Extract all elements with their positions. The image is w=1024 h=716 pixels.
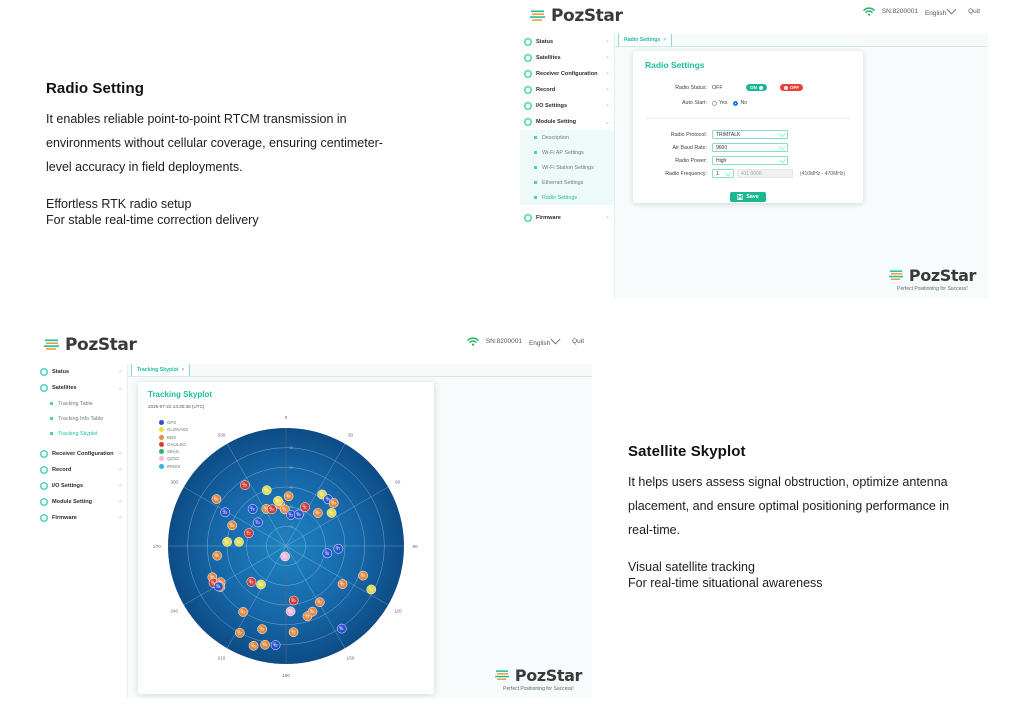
svg-text:43: 43 xyxy=(318,601,322,605)
chevron-up-icon: ⌃ xyxy=(605,72,610,77)
language-label: English xyxy=(529,340,550,347)
sidebar-subitem-ethernet-settings[interactable]: Ethernet Settings xyxy=(520,175,614,190)
sidebar-item-status[interactable]: Status ⌃ xyxy=(520,34,614,50)
satellite-marker: 06 xyxy=(234,537,243,546)
svg-text:0: 0 xyxy=(285,415,288,420)
svg-text:45: 45 xyxy=(289,486,293,490)
app-window-tracking-skyplot: PozStar SN:8200001 English Quit Status xyxy=(36,330,592,698)
svg-text:48: 48 xyxy=(259,583,263,587)
satellite-marker: 23 xyxy=(258,625,267,634)
radio-status-label: Radio Status: xyxy=(645,85,712,91)
radio-protocol-select[interactable]: TRIMTALK xyxy=(712,130,788,139)
svg-text:42: 42 xyxy=(274,644,278,648)
sidebar-item-module-setting[interactable]: Module Setting ⌄ xyxy=(520,114,614,130)
svg-text:09: 09 xyxy=(332,502,336,506)
svg-text:44: 44 xyxy=(287,495,291,499)
radio-protocol-row: Radio Protocol: TRIMTALK xyxy=(645,130,851,139)
language-label: English xyxy=(925,10,946,17)
promo-satellite-skyplot: Satellite Skyplot It helps users assess … xyxy=(628,443,973,591)
tab-strip: Radio Settings × xyxy=(615,34,988,47)
save-button[interactable]: Save xyxy=(730,192,766,202)
svg-text:300: 300 xyxy=(170,480,178,485)
svg-text:29: 29 xyxy=(270,508,274,512)
content-area: Radio Settings Radio Status: OFF ON OFF xyxy=(615,47,988,298)
satellite-marker: 18 xyxy=(248,504,257,513)
svg-text:45: 45 xyxy=(215,554,219,558)
radio-protocol-value: TRIMTALK xyxy=(716,132,740,138)
card-title: Radio Settings xyxy=(645,60,851,70)
receiver-icon xyxy=(524,70,532,78)
sidebar-item-label: Firmware xyxy=(52,515,77,521)
svg-text:49: 49 xyxy=(249,580,253,584)
svg-text:60: 60 xyxy=(395,480,401,485)
footer-brand: PozStar Perfect Positioning for Success! xyxy=(889,266,976,292)
radio-frequency-row: Radio Frequency: 1 411.0000 (410MHz - 47… xyxy=(645,169,851,178)
skyplot-card: Tracking Skyplot 2025-07-22 14:30:38 (UT… xyxy=(138,382,434,694)
sidebar-item-label: Satellites xyxy=(536,55,561,61)
svg-text:90: 90 xyxy=(412,544,418,549)
satellite-marker: 28 xyxy=(323,549,332,558)
satellite-marker: 48 xyxy=(256,580,265,589)
satellite-marker: 17 xyxy=(334,544,343,553)
brand-name: PozStar xyxy=(65,335,136,355)
bullet-icon xyxy=(534,166,537,169)
svg-text:60: 60 xyxy=(289,505,293,509)
promo-title: Radio Setting xyxy=(46,80,406,97)
sidebar-item-label: Module Setting xyxy=(52,499,92,505)
sidebar-item-firmware[interactable]: Firmware ⌃ xyxy=(36,510,127,526)
radio-frequency-value: 411.0000 xyxy=(737,169,793,178)
svg-text:32: 32 xyxy=(320,493,324,497)
tab-label: Radio Settings xyxy=(624,37,660,43)
sidebar: Status ⌃ Satellites ⌄ Tracking Table Tra… xyxy=(36,364,128,698)
bullet-icon xyxy=(50,432,53,435)
sidebar-subitem-label: Wi-Fi AP Settings xyxy=(542,150,584,156)
chevron-up-icon: ⌃ xyxy=(118,516,123,521)
tab-tracking-skyplot[interactable]: Tracking Skyplot × xyxy=(131,363,190,376)
sidebar-subitem-label: Ethernet Settings xyxy=(542,180,583,186)
auto-start-no-radio[interactable] xyxy=(733,101,738,106)
sidebar-subitem-label: Wi-Fi Station Settings xyxy=(542,165,594,171)
chevron-down-icon xyxy=(779,143,786,150)
content-area: Tracking Skyplot 2025-07-22 14:30:38 (UT… xyxy=(128,377,592,698)
air-baud-rate-label: Air Baud Rate: xyxy=(645,145,712,151)
svg-text:03: 03 xyxy=(289,610,293,614)
brand-mark-icon xyxy=(530,9,547,24)
svg-text:23: 23 xyxy=(260,628,264,632)
satellite-marker: 45 xyxy=(213,551,222,560)
sidebar-item-satellites[interactable]: Satellites ⌄ xyxy=(36,380,127,396)
sidebar-item-label: Status xyxy=(52,369,69,375)
satellite-marker: 38 xyxy=(228,521,237,530)
satellite-marker: 09 xyxy=(329,498,338,507)
sidebar-subitem-label: Tracking Info Table xyxy=(58,416,103,422)
sidebar-item-label: I/O Settings xyxy=(536,103,567,109)
sidebar-item-label: Receiver Configuration xyxy=(536,71,598,77)
sidebar-subitem-radio-settings[interactable]: Radio Settings xyxy=(520,190,614,205)
brand-mark-icon xyxy=(889,269,905,283)
chevron-down-icon xyxy=(779,156,786,163)
promo-body: It enables reliable point-to-point RTCM … xyxy=(46,107,406,179)
svg-text:30: 30 xyxy=(348,432,354,437)
quit-button[interactable]: Quit xyxy=(968,8,980,15)
sidebar-subitem-label: Tracking Skyplot xyxy=(58,431,98,437)
sidebar-item-label: I/O Settings xyxy=(52,483,83,489)
radio-power-label: Radio Power: xyxy=(645,158,712,164)
auto-start-yes-radio[interactable] xyxy=(712,101,717,106)
receiver-icon xyxy=(40,450,48,458)
radio-power-select[interactable]: High xyxy=(712,156,788,165)
svg-text:18: 18 xyxy=(251,507,255,511)
radio-frequency-channel-value: 1 xyxy=(716,171,719,177)
io-icon xyxy=(524,102,532,110)
svg-text:150: 150 xyxy=(347,656,355,661)
svg-text:210: 210 xyxy=(218,656,226,661)
sidebar-item-label: Receiver Configuration xyxy=(52,451,114,457)
radio-off-label: OFF xyxy=(790,85,799,90)
status-icon xyxy=(40,368,48,376)
satellite-marker: 22 xyxy=(244,529,253,538)
svg-text:17: 17 xyxy=(336,547,340,551)
toggle-knob-icon xyxy=(759,86,763,90)
svg-text:11: 11 xyxy=(303,506,307,510)
chevron-up-icon: ⌃ xyxy=(118,500,123,505)
satellite-marker: 50 xyxy=(212,494,221,503)
svg-text:25: 25 xyxy=(223,511,227,515)
chevron-up-icon: ⌃ xyxy=(605,216,610,221)
svg-text:39: 39 xyxy=(361,574,365,578)
auto-start-no-label: No xyxy=(740,100,747,106)
toggle-knob-icon xyxy=(784,86,788,90)
brand-name: PozStar xyxy=(551,6,622,26)
skyplot-timestamp: 2025-07-22 14:30:38 (UTC) xyxy=(148,404,424,409)
app-header: PozStar SN:8200001 English Quit xyxy=(520,0,988,34)
promo-tagline-1: Visual satellite tracking xyxy=(628,560,973,576)
svg-text:22: 22 xyxy=(247,532,251,536)
svg-text:13: 13 xyxy=(256,521,260,525)
radio-frequency-range: (410MHz - 470MHz) xyxy=(800,171,845,177)
svg-text:06: 06 xyxy=(237,540,241,544)
svg-text:270: 270 xyxy=(153,544,161,549)
svg-text:330: 330 xyxy=(218,432,226,437)
tab-radio-settings[interactable]: Radio Settings × xyxy=(618,33,672,46)
chevron-down-icon xyxy=(725,169,732,176)
chevron-up-icon: ⌃ xyxy=(605,40,610,45)
io-icon xyxy=(40,482,48,490)
chevron-down-icon xyxy=(779,130,786,137)
save-label: Save xyxy=(746,194,759,200)
svg-text:24: 24 xyxy=(265,489,269,493)
sidebar-subitem-wifi-ap-settings[interactable]: Wi-Fi AP Settings xyxy=(520,145,614,160)
sidebar-item-status[interactable]: Status ⌃ xyxy=(36,364,127,380)
footer-brand-name: PozStar xyxy=(515,666,582,685)
svg-text:41: 41 xyxy=(241,610,245,614)
bullet-icon xyxy=(50,402,53,405)
wifi-icon xyxy=(863,7,875,17)
svg-text:04: 04 xyxy=(217,585,221,589)
svg-text:33: 33 xyxy=(289,513,293,517)
svg-text:40: 40 xyxy=(292,599,296,603)
svg-text:47: 47 xyxy=(316,511,320,515)
module-icon xyxy=(40,498,48,506)
chevron-down-icon xyxy=(551,335,561,345)
satellite-marker: 46 xyxy=(249,641,258,650)
svg-text:15: 15 xyxy=(263,643,267,647)
satellite-marker: 42 xyxy=(271,640,280,649)
chevron-up-icon: ⌃ xyxy=(605,104,610,109)
satellite-marker: 10 xyxy=(240,481,249,490)
wifi-icon xyxy=(467,337,479,347)
tab-strip: Tracking Skyplot × xyxy=(128,364,592,377)
footer-tagline: Perfect Positioning for Success! xyxy=(897,286,968,292)
satellite-marker: 11 xyxy=(300,503,309,512)
sidebar-item-label: Record xyxy=(52,467,71,473)
chevron-up-icon: ⌃ xyxy=(118,484,123,489)
auto-start-label: Auto Start: xyxy=(645,100,712,106)
radio-protocol-label: Radio Protocol: xyxy=(645,132,712,138)
svg-text:28: 28 xyxy=(325,552,329,556)
sidebar-item-record[interactable]: Record ⌃ xyxy=(36,462,127,478)
sidebar-subitem-tracking-info-table[interactable]: Tracking Info Table xyxy=(36,411,127,426)
svg-text:20: 20 xyxy=(225,540,229,544)
header-controls: SN:8200001 English Quit xyxy=(467,336,584,347)
svg-text:01: 01 xyxy=(283,555,287,559)
firmware-icon xyxy=(524,214,532,222)
promo-radio-setting: Radio Setting It enables reliable point-… xyxy=(46,80,406,228)
language-selector[interactable]: English xyxy=(529,336,559,347)
save-disk-icon xyxy=(737,194,743,200)
svg-text:02: 02 xyxy=(330,511,334,515)
satellite-marker: 05 xyxy=(294,510,303,519)
record-icon xyxy=(40,466,48,474)
auto-start-yes-label: Yes xyxy=(719,100,727,106)
satellite-marker: 07 xyxy=(273,496,282,505)
auto-start-row: Auto Start: Yes No xyxy=(645,100,851,106)
sidebar-item-record[interactable]: Record ⌃ xyxy=(520,82,614,98)
radio-frequency-channel-select[interactable]: 1 xyxy=(712,169,734,178)
satellite-marker: 34 xyxy=(308,607,317,616)
chevron-up-icon: ⌃ xyxy=(605,56,610,61)
svg-text:30: 30 xyxy=(289,466,293,470)
status-icon xyxy=(524,38,532,46)
satellite-marker: 13 xyxy=(253,518,262,527)
radio-status-value: OFF xyxy=(712,85,746,91)
bullet-icon xyxy=(534,181,537,184)
svg-text:12: 12 xyxy=(292,631,296,635)
bullet-icon xyxy=(534,151,537,154)
quit-button[interactable]: Quit xyxy=(572,338,584,345)
sidebar-subitem-label: Tracking Table xyxy=(58,401,93,407)
chevron-down-icon: ⌄ xyxy=(605,120,610,125)
record-icon xyxy=(524,86,532,94)
sidebar-item-receiver-configuration[interactable]: Receiver Configuration ⌃ xyxy=(36,446,127,462)
app-header: PozStar SN:8200001 English Quit xyxy=(36,330,592,364)
satellite-marker: 49 xyxy=(247,577,256,586)
bullet-icon xyxy=(534,196,537,199)
svg-text:14: 14 xyxy=(369,588,373,592)
footer-brand-logo: PozStar xyxy=(889,266,976,285)
svg-text:46: 46 xyxy=(252,644,256,648)
svg-text:50: 50 xyxy=(214,498,218,502)
sidebar-item-label: Record xyxy=(536,87,555,93)
satellite-marker: 01 xyxy=(280,552,289,561)
satellite-marker: 29 xyxy=(267,505,276,514)
radio-settings-card: Radio Settings Radio Status: OFF ON OFF xyxy=(633,51,863,203)
firmware-icon xyxy=(40,514,48,522)
radio-off-button[interactable]: OFF xyxy=(780,84,803,91)
promo-tagline-1: Effortless RTK radio setup xyxy=(46,197,406,213)
promo-title: Satellite Skyplot xyxy=(628,443,973,460)
footer-brand: PozStar Perfect Positioning for Success! xyxy=(495,666,582,692)
language-selector[interactable]: English xyxy=(925,6,955,17)
satellite-marker: 03 xyxy=(286,607,295,616)
svg-text:05: 05 xyxy=(297,513,301,517)
footer-brand-logo: PozStar xyxy=(495,666,582,685)
footer-tagline: Perfect Positioning for Success! xyxy=(503,686,574,692)
satellite-marker: 12 xyxy=(289,628,298,637)
satellite-icon xyxy=(40,384,48,392)
chevron-up-icon: ⌃ xyxy=(118,370,123,375)
app-window-radio-settings: PozStar SN:8200001 English Quit Status xyxy=(520,0,988,298)
chevron-up-icon: ⌃ xyxy=(605,88,610,93)
radio-power-row: Radio Power: High xyxy=(645,156,851,165)
chevron-up-icon: ⌃ xyxy=(118,452,123,457)
svg-text:27: 27 xyxy=(238,631,242,635)
svg-text:51: 51 xyxy=(340,627,344,631)
sidebar-subitem-wifi-station-settings[interactable]: Wi-Fi Station Settings xyxy=(520,160,614,175)
radio-power-value: High xyxy=(716,158,726,164)
bullet-icon xyxy=(534,136,537,139)
tab-label: Tracking Skyplot xyxy=(137,367,179,373)
chevron-down-icon: ⌄ xyxy=(118,386,123,391)
chevron-down-icon xyxy=(947,5,957,15)
promo-tagline-2: For real-time situational awareness xyxy=(628,576,973,592)
svg-text:180: 180 xyxy=(282,673,290,678)
sidebar-item-label: Module Setting xyxy=(536,119,576,125)
satellite-marker: 02 xyxy=(327,508,336,517)
serial-number: SN:8200001 xyxy=(882,8,918,15)
svg-text:15: 15 xyxy=(289,446,293,450)
satellite-marker: 51 xyxy=(337,624,346,633)
skyplot-title: Tracking Skyplot xyxy=(148,390,424,399)
sidebar-item-io-settings[interactable]: I/O Settings ⌃ xyxy=(520,98,614,114)
brand-mark-icon xyxy=(495,669,511,683)
satellite-marker: 37 xyxy=(338,580,347,589)
promo-body: It helps users assess signal obstruction… xyxy=(628,470,973,542)
chevron-up-icon: ⌃ xyxy=(118,468,123,473)
brand-logo: PozStar xyxy=(44,335,136,355)
satellite-marker: 41 xyxy=(239,607,248,616)
bullet-icon xyxy=(50,417,53,420)
sidebar-item-satellites[interactable]: Satellites ⌃ xyxy=(520,50,614,66)
satellite-marker: 47 xyxy=(313,508,322,517)
sidebar-subitem-label: Radio Settings xyxy=(542,195,577,201)
close-icon[interactable]: × xyxy=(663,37,666,43)
radio-frequency-label: Radio Frequency: xyxy=(645,171,712,177)
satellite-marker: 43 xyxy=(315,598,324,607)
svg-text:07: 07 xyxy=(276,499,280,503)
svg-text:34: 34 xyxy=(311,610,315,614)
divider xyxy=(645,118,851,119)
satellite-marker: 24 xyxy=(262,486,271,495)
sidebar: Status ⌃ Satellites ⌃ Receiver Configura… xyxy=(520,34,615,298)
satellite-icon xyxy=(524,54,532,62)
satellite-marker: 04 xyxy=(214,582,223,591)
satellite-marker: 40 xyxy=(289,596,298,605)
sidebar-item-firmware[interactable]: Firmware ⌃ xyxy=(520,210,614,226)
sidebar-item-label: Status xyxy=(536,39,553,45)
svg-text:240: 240 xyxy=(170,609,178,614)
satellite-marker: 27 xyxy=(235,628,244,637)
module-icon xyxy=(524,118,532,126)
svg-text:38: 38 xyxy=(230,524,234,528)
close-icon[interactable]: × xyxy=(182,367,185,373)
air-baud-rate-value: 9600 xyxy=(716,145,727,151)
sidebar-subitem-tracking-skyplot[interactable]: Tracking Skyplot xyxy=(36,426,127,441)
skyplot-chart[interactable]: 0306090120150180210240270300330756045301… xyxy=(146,410,426,682)
sidebar-item-label: Firmware xyxy=(536,215,561,221)
sidebar-item-module-setting[interactable]: Module Setting ⌃ xyxy=(36,494,127,510)
svg-text:21: 21 xyxy=(283,508,287,512)
svg-text:37: 37 xyxy=(341,583,345,587)
radio-on-button[interactable]: ON xyxy=(746,84,767,91)
radio-status-row: Radio Status: OFF ON OFF xyxy=(645,84,851,91)
svg-text:75: 75 xyxy=(289,525,293,529)
sidebar-subitem-tracking-table[interactable]: Tracking Table xyxy=(36,396,127,411)
satellite-marker: 39 xyxy=(359,571,368,580)
promo-tagline-2: For stable real-time correction delivery xyxy=(46,213,406,229)
air-baud-rate-select[interactable]: 9600 xyxy=(712,143,788,152)
radio-on-label: ON xyxy=(750,85,757,90)
brand-logo: PozStar xyxy=(530,6,622,26)
sidebar-item-receiver-configuration[interactable]: Receiver Configuration ⌃ xyxy=(520,66,614,82)
brand-mark-icon xyxy=(44,338,61,353)
satellite-marker: 15 xyxy=(260,640,269,649)
footer-brand-name: PozStar xyxy=(909,266,976,285)
svg-text:120: 120 xyxy=(394,609,402,614)
satellite-marker: 14 xyxy=(367,585,376,594)
satellite-marker: 25 xyxy=(221,508,230,517)
sidebar-item-io-settings[interactable]: I/O Settings ⌃ xyxy=(36,478,127,494)
air-baud-rate-row: Air Baud Rate: 9600 xyxy=(645,143,851,152)
satellite-marker: 44 xyxy=(284,492,293,501)
header-controls: SN:8200001 English Quit xyxy=(863,6,980,17)
serial-number: SN:8200001 xyxy=(486,338,522,345)
svg-text:10: 10 xyxy=(243,484,247,488)
svg-text:31: 31 xyxy=(305,615,309,619)
sidebar-subitem-label: Description xyxy=(542,135,569,141)
sidebar-item-label: Satellites xyxy=(52,385,77,391)
satellite-marker: 20 xyxy=(223,537,232,546)
sidebar-subitem-description[interactable]: Description xyxy=(520,130,614,145)
